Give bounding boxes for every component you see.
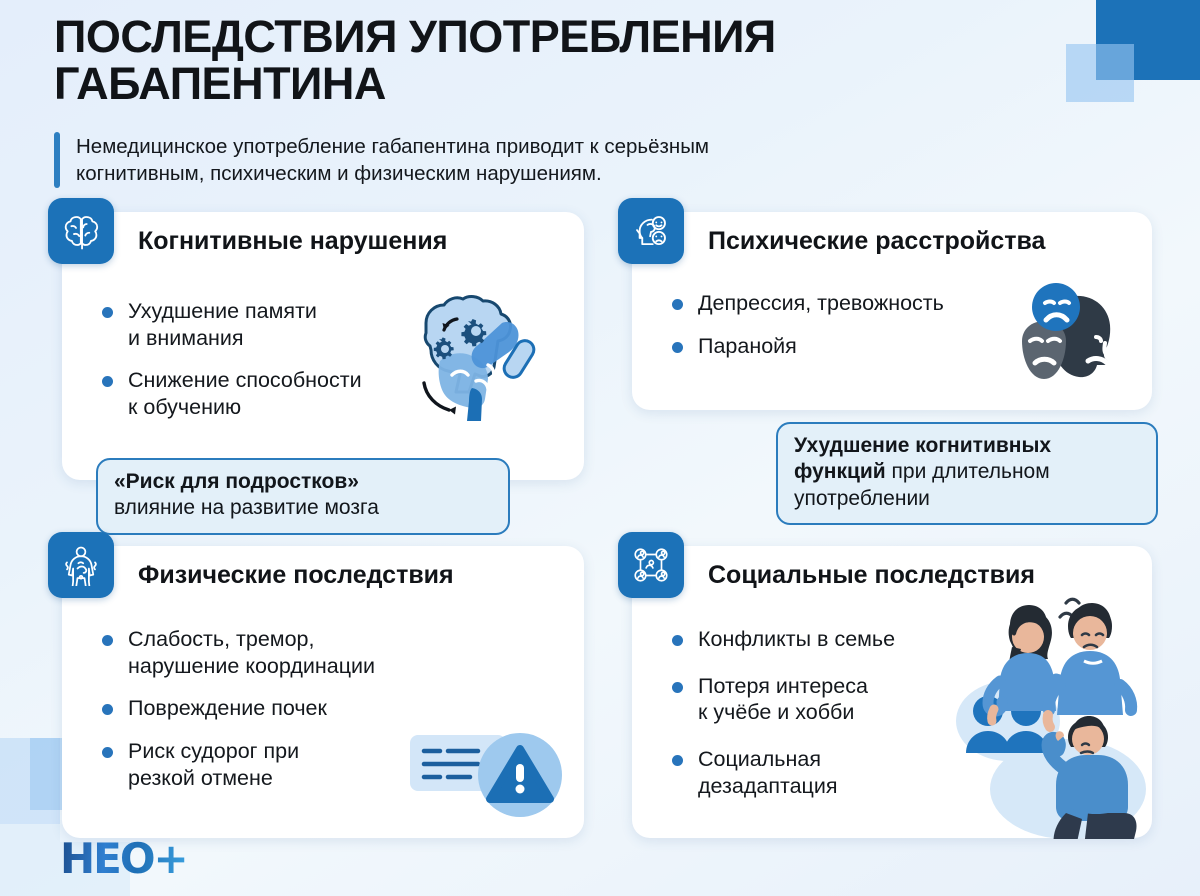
card-title: Социальные последствия — [708, 560, 1035, 590]
bullet-list: Слабость, тремор, нарушение координации … — [100, 626, 520, 807]
list-item: Конфликты в семье — [670, 626, 1000, 653]
decor-square-bottom-left-1 — [0, 738, 60, 824]
decor-square-top-right-dark — [1096, 0, 1200, 80]
list-item: Снижение способности к обучению — [100, 367, 480, 420]
list-item: Социальная дезадаптация — [670, 746, 1000, 799]
bullet-list: Ухудшение памяти и внимания Снижение спо… — [100, 298, 480, 437]
callout-long-term: Ухудшение когнитивных функций при длител… — [776, 422, 1158, 525]
card-title: Когнитивные нарушения — [138, 226, 447, 256]
head-emotions-icon — [618, 198, 684, 264]
brand-logo: НЕО+ — [60, 838, 187, 880]
people-network-icon — [618, 532, 684, 598]
list-item: Депрессия, тревожность — [670, 290, 1070, 317]
list-item: Паранойя — [670, 333, 1070, 360]
list-item: Риск судорог при резкой отмене — [100, 738, 520, 791]
list-item: Повреждение почек — [100, 695, 520, 722]
card-psych: Психические расстройства Депрессия, трев… — [632, 212, 1152, 410]
list-item: Потеря интереса к учёбе и хобби — [670, 673, 1000, 726]
list-item: Ухудшение памяти и внимания — [100, 298, 480, 351]
page-title: ПОСЛЕДСТВИЯ УПОТРЕБЛЕНИЯ ГАБАПЕНТИНА — [54, 14, 1054, 108]
card-social: Социальные последствия Конфликты в семье… — [632, 546, 1152, 838]
accent-bar — [54, 132, 60, 189]
bullet-list: Депрессия, тревожность Паранойя — [670, 290, 1070, 375]
card-physical: Физические последствия Слабость, тремор,… — [62, 546, 584, 838]
brain-icon — [48, 198, 114, 264]
page-subtitle: Немедицинское употребление габапентина п… — [76, 132, 709, 189]
decor-square-top-right-light — [1066, 44, 1134, 102]
body-organs-icon — [48, 532, 114, 598]
card-title: Физические последствия — [138, 560, 454, 590]
card-title: Психические расстройства — [708, 226, 1045, 256]
callout-bold-text: «Риск для подростков» — [114, 470, 359, 493]
callout-teen-risk: «Риск для подростков» влияние на развити… — [96, 458, 510, 535]
subtitle-block: Немедицинское употребление габапентина п… — [54, 132, 1054, 189]
list-item: Слабость, тремор, нарушение координации — [100, 626, 520, 679]
card-cognitive: Когнитивные нарушения Ухудшение памяти и… — [62, 212, 584, 480]
header: ПОСЛЕДСТВИЯ УПОТРЕБЛЕНИЯ ГАБАПЕНТИНА Нем… — [54, 14, 1054, 188]
callout-rest-text: влияние на развитие мозга — [114, 496, 379, 519]
bullet-list: Конфликты в семье Потеря интереса к учёб… — [670, 626, 1000, 819]
